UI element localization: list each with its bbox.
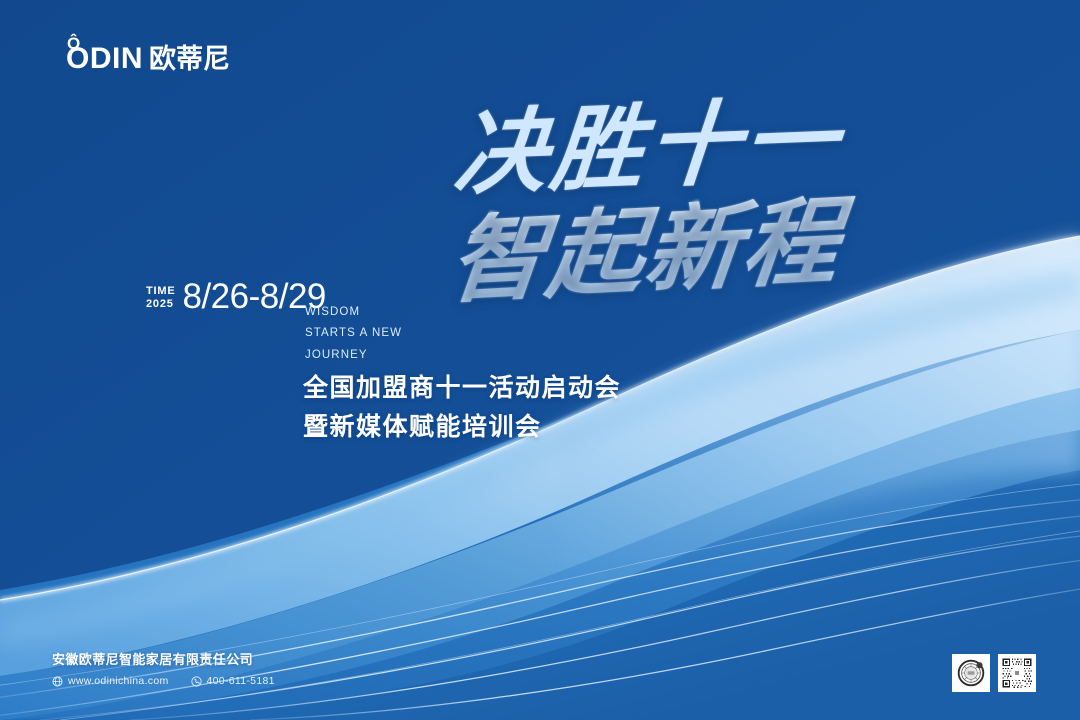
event-poster: ÔODIN 欧蒂尼 决胜十一 智起新程 TIME 2025 8/26-8/29 … [0,0,1080,720]
tagline-line-3: JOURNEY [305,345,402,366]
globe-icon [52,676,63,687]
footer-phone: 400-611-5181 [191,675,275,687]
footer: 安徽欧蒂尼智能家居有限责任公司 www.odinichina.com 400-6… [52,653,275,687]
official-seal-badge[interactable] [952,654,990,692]
tagline-line-1: WISDOM [305,302,402,323]
main-title-line-1: 决胜十一 [451,90,925,200]
footer-company-name: 安徽欧蒂尼智能家居有限责任公司 [52,653,275,666]
wechat-qr-code[interactable] [998,654,1036,692]
event-date: TIME 2025 8/26-8/29 [146,279,326,314]
brand-logo-text: DIN [90,42,143,75]
footer-phone-text: 400-611-5181 [207,675,275,687]
code-tiles [952,654,1036,692]
main-title-line-2: 智起新程 [445,190,928,309]
official-seal-badge-icon [954,656,988,690]
event-date-label: TIME 2025 [146,285,175,311]
english-tagline: WISDOM STARTS A NEW JOURNEY [305,302,402,366]
brand-logo-cn: 欧蒂尼 [149,46,230,73]
brand-logo-circumflex: Ô [67,35,81,52]
event-subtitle-line-2: 暨新媒体赋能培训会 [303,408,621,447]
tagline-line-2: STARTS A NEW [305,323,402,344]
event-subtitle-line-1: 全国加盟商十一活动启动会 [303,369,621,408]
brand-logo-mark: ÔODIN [66,44,143,74]
footer-website: www.odinichina.com [52,675,169,687]
footer-website-text: www.odinichina.com [68,675,169,687]
event-date-label-time: TIME [146,285,175,298]
brand-logo: ÔODIN 欧蒂尼 [66,44,230,74]
phone-icon [191,676,202,687]
event-date-label-year: 2025 [146,298,175,311]
footer-contacts: www.odinichina.com 400-611-5181 [52,675,275,687]
main-title: 决胜十一 智起新程 [445,108,915,348]
wechat-qr-code-icon [1000,656,1034,690]
event-subtitle: 全国加盟商十一活动启动会 暨新媒体赋能培训会 [303,369,621,447]
